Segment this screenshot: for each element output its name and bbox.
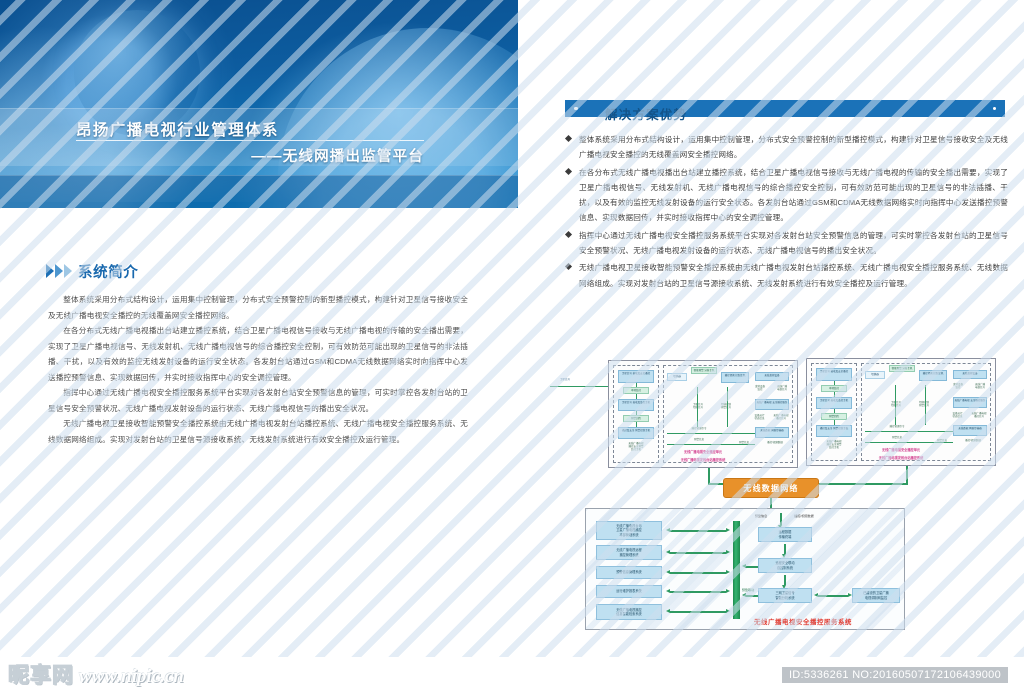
diagram-note: 卫星信号 切换信号 — [883, 401, 909, 407]
list-item-text: 在各分布式无线广播电视播出台站建立播控系统，结合卫星广播电视信号接收与无线广播电… — [579, 165, 1008, 226]
diagram-note: 播控/视频数据 — [959, 439, 987, 442]
hero-banner: 昂扬广播电视行业管理体系 ——无线网播出监管平台 — [0, 0, 518, 208]
flow-arrow — [670, 530, 726, 532]
paragraph: 指挥中心通过无线广播电视安全播控服务系统平台实现对各发射台站安全预警信息的管理，… — [48, 385, 468, 416]
connector — [636, 411, 637, 415]
connector — [925, 385, 926, 425]
hero-bottom-band — [0, 175, 518, 208]
diagram-cell: 智能预警 分析主机 — [691, 367, 717, 374]
connector — [727, 387, 728, 427]
diagram-cell: 切换器 — [667, 373, 687, 381]
chevron-right-icon — [46, 264, 72, 278]
paragraph: 整体系统采用分布式结构设计，运用集中控制管理，分布式安全预警控制的新型播控模式，… — [48, 292, 468, 323]
diagram-note: 无线广播 电视信号 — [772, 385, 792, 391]
diagram-cell: 远程安全联动 自控制系统 — [758, 558, 812, 573]
trunk-line — [708, 468, 710, 484]
diagram-note: 预警信息 — [877, 436, 917, 439]
diagram-caption: 无线广播电视安全播控单元 — [807, 447, 995, 452]
diagram-cell: 无线广播电视台与 卫星广播电视播控 本部管理系统 — [596, 521, 662, 540]
trunk-line — [906, 466, 908, 484]
diagram-cell: 已建设的卫星广播 电视调制网监控 — [852, 588, 900, 603]
flow-arrow — [784, 544, 786, 554]
flow-arrow — [818, 595, 848, 597]
flow-arrow — [670, 611, 726, 613]
connector — [834, 420, 835, 425]
hero-subtitle: ——无线网播出监管平台 — [76, 145, 424, 166]
diagram-title: 无线广播电视安全播控服务系统 — [708, 617, 898, 626]
diagram-caption: 无线广播电视发射台站播控系统 — [609, 457, 797, 462]
diagram-cell: 预警回传 — [821, 413, 847, 420]
diagram-note: 切换控制 预警信号 — [713, 403, 739, 409]
bullet-dot-icon — [574, 107, 578, 111]
diagram-cell: 播控切换 控制主机 — [721, 372, 749, 383]
paragraph: 在各分布式无线广播电视播出台站建立播控系统，结合卫星广播电视信号接收与无线广播电… — [48, 323, 468, 385]
diagram-cell: 播控及安全 预警控制主机 — [618, 427, 654, 439]
diagram-cell: 智能预警 分析主机 — [889, 365, 915, 372]
diagram-cell: 运行维护报表系统 — [596, 585, 662, 598]
diagram-note: 无线广播电视 播控信号 — [771, 414, 791, 420]
diagram-cell: 无线广播电视 安全播控服务 — [755, 399, 789, 410]
connector — [895, 385, 896, 425]
diagram-note: 无线广播电视 播控信号 — [969, 412, 989, 418]
list-item: 在各分布式无线广播电视播出台站建立播控系统，结合卫星广播电视信号接收与无线广播电… — [565, 165, 1008, 226]
diagram-caption: 无线广播电视发射台站播控系统 — [807, 455, 995, 460]
station-schematic-block: 卫星信号 接收及安全播控 本地监控 卫星信号 接收及监控主机 预警回传 播控及安… — [608, 360, 798, 468]
service-system-diagram: 无线广播电视台与 卫星广播电视播控 本部管理系统 无线广播电视远程 播控管理系统… — [585, 508, 905, 630]
signal-line — [550, 386, 608, 387]
connector — [667, 433, 755, 434]
diagram-cell: 切换器 — [865, 371, 885, 379]
diagram-cell: 三网卫星信号 智能分析系统 — [758, 588, 812, 603]
diagram-cell: 无线广播电视播控 信息智能检索系统 — [596, 604, 662, 620]
diagram-cell: 无线数据 网络传输器 — [953, 425, 987, 436]
connector — [834, 409, 835, 413]
diagram-cell: 无线广播电视 安全播控服务 — [953, 397, 987, 408]
site-watermark: 昵享网 www.nipic.cn — [8, 659, 184, 689]
hero-divider — [76, 140, 424, 141]
diagram-cell: 卫星信号 接收及安全播控 — [618, 370, 654, 383]
brochure-spread: 昂扬广播电视行业管理体系 ——无线网播出监管平台 系统简介 整体系统采用分布式结… — [0, 0, 1024, 693]
body-copy: 整体系统采用分布式结构设计，运用集中控制管理，分布式安全预警控制的新型播控模式，… — [48, 292, 468, 447]
diagram-note: 切换控制 预警信号 — [911, 401, 937, 407]
connector — [636, 383, 637, 387]
image-id-badge: ID:5336261 NO:20160507172106439000 — [782, 667, 1008, 683]
section-heading: 系统简介 — [46, 264, 138, 280]
diagram-cell: 播控切换 控制主机 — [919, 370, 947, 381]
diagram-cell: 本地监控 — [821, 385, 847, 392]
flow-arrow — [670, 591, 726, 593]
diagram-note: 预警信息 — [733, 441, 755, 444]
bullet-dot-icon — [993, 107, 997, 111]
left-page: 昂扬广播电视行业管理体系 ——无线网播出监管平台 系统简介 整体系统采用分布式结… — [0, 0, 518, 657]
wireless-network-box: 无线数据网络 — [723, 478, 819, 498]
connector — [834, 381, 835, 385]
diagram-note: 发射设备 监控 — [751, 385, 769, 391]
site-name-cn: 昵享网 — [8, 659, 74, 689]
diagram-note: 播控管理命令 — [877, 425, 917, 428]
list-item: 指挥中心通过无线广播电视安全播控服务系统平台实现对各发射台站安全预警信息的管理，… — [565, 228, 1008, 259]
list-item-text: 整体系统采用分布式结构设计，运用集中控制管理，分布式安全预警控制的新型播控模式，… — [579, 132, 1008, 163]
advantages-list: 整体系统采用分布式结构设计，运用集中控制管理，分布式安全预警控制的新型播控模式，… — [565, 132, 1008, 293]
diagram-cell: 无线广播电视远程 播控管理系统 — [596, 545, 662, 560]
connector — [697, 387, 698, 427]
diagram-cell: 无线发射设备 — [953, 370, 987, 379]
connector — [865, 431, 953, 432]
station-schematic-block: 卫星信号 接收及安全播控 本地监控 卫星信号 接收及监控主机 预警回传 播控及安… — [806, 358, 996, 466]
diagram-note: 发射设备 监控 — [949, 383, 967, 389]
diagram-note: 无线广播 电视信号 — [970, 383, 990, 389]
diagram-cell: 本地监控 — [623, 387, 649, 394]
diagram-note: 播控/视频数据 — [761, 441, 789, 444]
diamond-bullet-icon — [565, 168, 572, 175]
right-header-title: 解决方案优势 — [605, 104, 687, 123]
external-signal-label: 卫星信号 — [550, 378, 580, 381]
flow-arrow — [780, 513, 782, 525]
diagram-note: 预警信息 — [679, 438, 719, 441]
connector — [834, 392, 835, 397]
diagram-cell: 预警信息管理系统 — [596, 566, 662, 579]
diamond-bullet-icon — [565, 135, 572, 142]
diagram-cell: 卫星信号 接收及安全播控 — [816, 368, 852, 381]
diagram-note: 设备运行 状态信息 — [948, 412, 967, 418]
architecture-diagrams: 卫星信号 卫星信号 卫星信号 接收及安全播控 本地监控 卫星信号 接收及监控主机… — [548, 350, 1018, 650]
diamond-bullet-icon — [565, 231, 572, 238]
diagram-cell: 预警回传 — [623, 415, 649, 422]
flow-arrow — [670, 572, 726, 574]
connector — [636, 422, 637, 427]
site-url: www.nipic.cn — [79, 666, 184, 688]
trunk-line — [770, 498, 772, 508]
diagram-cell: 无线数据 网络传输器 — [755, 427, 789, 438]
list-item-text: 无线广播电视卫星接收智能预警安全播控系统由无线广播电视发射台站播控系统、无线广播… — [579, 260, 1008, 291]
diamond-bullet-icon — [565, 263, 572, 270]
diagram-note: 设备运行 状态信息 — [750, 414, 769, 420]
flow-arrow — [670, 552, 726, 554]
diagram-note: 卫星信号 切换信号 — [685, 403, 711, 409]
diagram-cell: 远程数据 传输终端 — [758, 527, 812, 542]
list-item-text: 指挥中心通过无线广播电视安全播控服务系统平台实现对各发射台站安全预警信息的管理，… — [579, 228, 1008, 259]
list-item: 整体系统采用分布式结构设计，运用集中控制管理，分布式安全预警控制的新型播控模式，… — [565, 132, 1008, 163]
diagram-note: 播控/视频数据 — [782, 513, 826, 518]
diagram-cell: 播控及安全 预警控制主机 — [816, 425, 852, 437]
section-title: 系统简介 — [78, 266, 138, 281]
diagram-note: 预警信息 — [931, 439, 953, 442]
paragraph: 无线广播电视卫星接收智能预警安全播控系统由无线广播电视发射台站播控系统、无线广播… — [48, 416, 468, 447]
service-bus — [733, 521, 740, 619]
diagram-cell: 无线发射设备 — [755, 372, 789, 381]
diagram-caption: 无线广播电视安全播控单元 — [609, 449, 797, 454]
list-item: 无线广播电视卫星接收智能预警安全播控系统由无线广播电视发射台站播控系统、无线广播… — [565, 260, 1008, 291]
flow-arrow — [784, 575, 786, 585]
connector — [636, 394, 637, 399]
diagram-note: 播控管理命令 — [679, 427, 719, 430]
diagram-note: 预警信息 — [746, 513, 776, 518]
hero-title: 昂扬广播电视行业管理体系 — [76, 118, 279, 140]
diagram-cell: 卫星信号 接收及监控主机 — [618, 399, 654, 411]
diagram-cell: 卫星信号 接收及监控主机 — [816, 397, 852, 409]
